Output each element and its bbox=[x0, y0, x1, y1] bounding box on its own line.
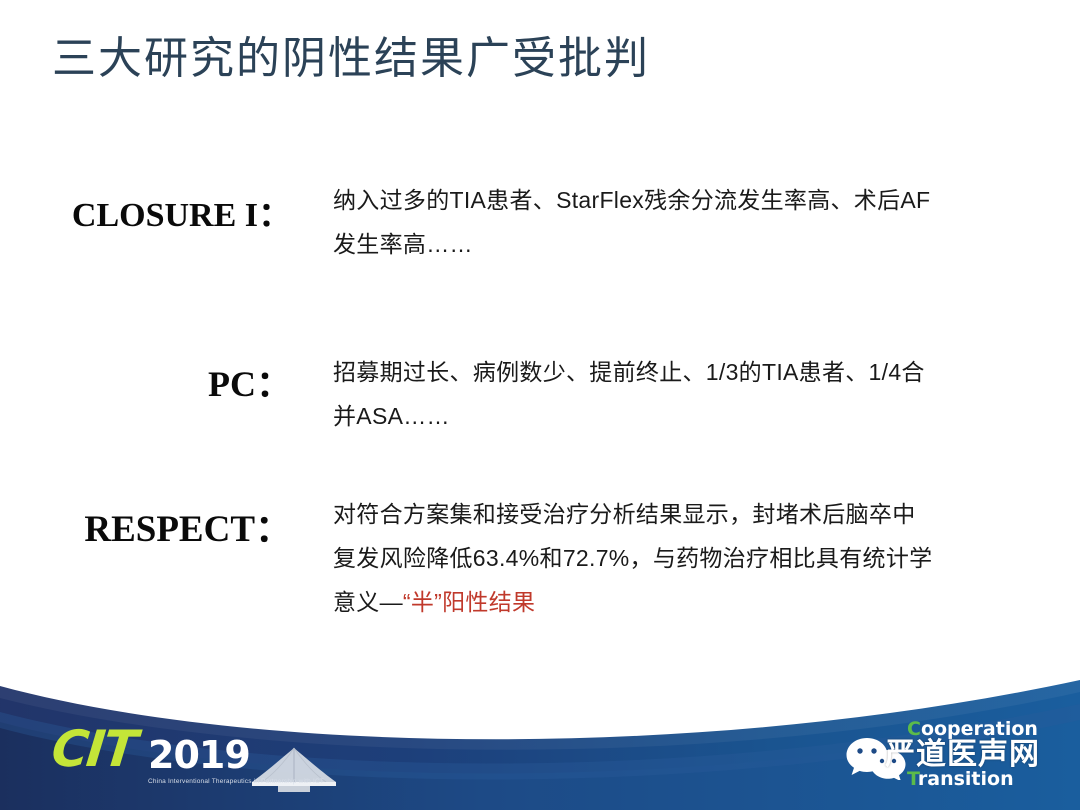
partner-logo: Cooperation Transition 严道医声网 bbox=[845, 714, 1070, 800]
entry-body-closure-i: 纳入过多的TIA患者、StarFlex残余分流发生率高、术后AF 发生率高…… bbox=[333, 178, 1033, 266]
pyramid-icon bbox=[248, 746, 340, 794]
entry-line: 对符合方案集和接受治疗分析结果显示，封堵术后脑卒中 bbox=[333, 492, 1033, 536]
entry-line-final: 意义—“半”阳性结果 bbox=[333, 580, 1033, 624]
entry-line: 并ASA…… bbox=[333, 394, 1033, 438]
entry-label-respect: RESPECT： bbox=[0, 498, 292, 552]
entry-highlight-half-positive: “半”阳性结果 bbox=[403, 589, 535, 615]
cit-wordmark: CIT bbox=[49, 724, 138, 774]
partner-line-cooperation: Cooperation bbox=[907, 718, 1038, 740]
content-area: CLOSURE I： 纳入过多的TIA患者、StarFlex残余分流发生率高、术… bbox=[0, 178, 1080, 642]
entry-line: 纳入过多的TIA患者、StarFlex残余分流发生率高、术后AF bbox=[333, 178, 1033, 222]
entry-line: 招募期过长、病例数少、提前终止、1/3的TIA患者、1/4合 bbox=[333, 350, 1033, 394]
cooperation-rest: ooperation bbox=[921, 718, 1038, 740]
partner-brand-cn: 严道医声网 bbox=[885, 738, 1040, 772]
cit-subtitle: China Interventional Therapeutics in Par… bbox=[148, 778, 324, 786]
entry-pc: PC： 招募期过长、病例数少、提前终止、1/3的TIA患者、1/4合 并ASA…… bbox=[0, 350, 1080, 492]
entry-label-closure-i: CLOSURE I： bbox=[0, 187, 292, 236]
entry-body-respect: 对符合方案集和接受治疗分析结果显示，封堵术后脑卒中 复发风险降低63.4%和72… bbox=[333, 492, 1033, 624]
page-title: 三大研究的阴性结果广受批判 bbox=[52, 34, 650, 85]
slide-canvas: 三大研究的阴性结果广受批判 CLOSURE I： 纳入过多的TIA患者、Star… bbox=[0, 0, 1080, 810]
entry-line: 发生率高…… bbox=[333, 222, 1033, 266]
entry-body-pc: 招募期过长、病例数少、提前终止、1/3的TIA患者、1/4合 并ASA…… bbox=[333, 350, 1033, 438]
cit-2019-logo: CIT 2019 China Interventional Therapeuti… bbox=[52, 724, 392, 798]
cooperation-initial: C bbox=[907, 718, 921, 740]
entry-respect: RESPECT： 对符合方案集和接受治疗分析结果显示，封堵术后脑卒中 复发风险降… bbox=[0, 492, 1080, 642]
cit-year: 2019 bbox=[148, 736, 250, 774]
entry-line-prefix: 意义— bbox=[333, 589, 403, 615]
entry-line: 复发风险降低63.4%和72.7%，与药物治疗相比具有统计学 bbox=[333, 536, 1033, 580]
entry-closure-i: CLOSURE I： 纳入过多的TIA患者、StarFlex残余分流发生率高、术… bbox=[0, 178, 1080, 350]
entry-label-pc: PC： bbox=[0, 355, 292, 407]
